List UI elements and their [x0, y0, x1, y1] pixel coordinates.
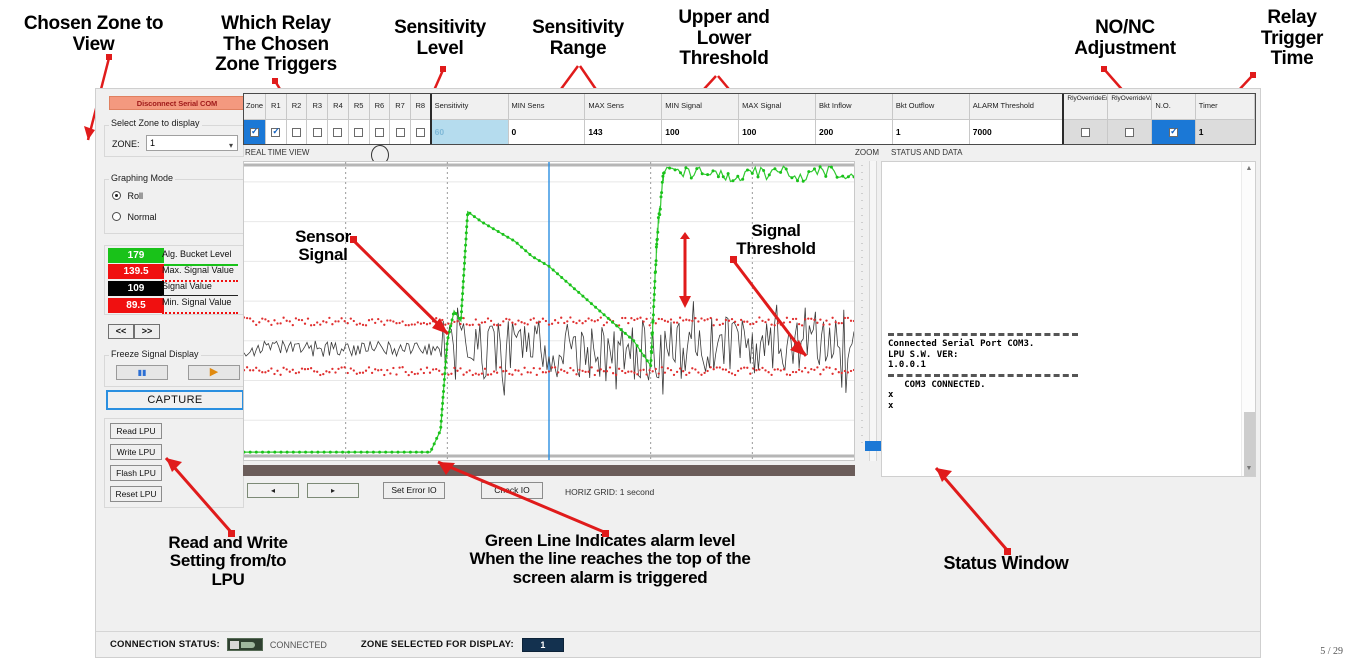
series-alg-bucket-level-marker	[796, 179, 799, 182]
zone-select[interactable]: 1 ▾	[146, 135, 238, 151]
series-min-signal-value	[551, 366, 553, 368]
series-min-signal-value	[527, 371, 529, 373]
series-alg-bucket-level-marker	[538, 259, 541, 262]
table-column: Sensitivity60	[432, 94, 509, 144]
checkbox-cell[interactable]	[328, 120, 348, 144]
series-alg-bucket-level-marker	[249, 451, 252, 454]
series-min-signal-value	[462, 374, 464, 376]
series-max-signal-value	[746, 321, 748, 323]
value-cell[interactable]: 143	[585, 120, 661, 144]
table-column: Zone	[244, 94, 266, 144]
series-min-signal-value	[853, 369, 854, 371]
series-max-signal-value	[371, 318, 373, 320]
series-min-signal-value	[774, 368, 776, 370]
series-min-signal-value	[838, 371, 840, 373]
series-min-signal-value	[438, 370, 440, 372]
series-alg-bucket-level-marker	[594, 306, 597, 309]
checkbox-unchecked-icon[interactable]	[333, 128, 342, 137]
checkbox-cell[interactable]	[266, 120, 286, 144]
series-min-signal-value	[307, 368, 309, 370]
series-min-signal-value	[700, 374, 702, 376]
checkbox-checked-icon[interactable]	[271, 128, 280, 137]
graphing-mode-roll[interactable]: Roll	[112, 191, 143, 201]
series-min-signal-value	[478, 373, 480, 375]
play-icon: ▶	[210, 366, 218, 378]
series-max-signal-value	[279, 322, 281, 324]
freeze-play-button[interactable]: ▶	[188, 365, 240, 380]
select-zone-title: Select Zone to display	[109, 118, 202, 128]
series-max-signal-value	[481, 321, 483, 323]
series-min-signal-value	[292, 369, 294, 371]
series-max-signal-value	[536, 322, 538, 324]
series-alg-bucket-level-marker	[462, 280, 465, 283]
series-alg-bucket-level-marker	[384, 451, 387, 454]
series-alg-bucket-level-marker	[674, 168, 677, 171]
series-min-signal-value	[258, 369, 260, 371]
series-alg-bucket-level-marker	[741, 178, 744, 181]
series-min-signal-value	[289, 371, 291, 373]
column-header: RlyOverrideValue	[1108, 94, 1151, 120]
max-signal-value-label: Max. Signal Value	[162, 265, 234, 275]
scroll-left-button[interactable]: ◂	[247, 483, 299, 498]
series-max-signal-value	[545, 320, 547, 322]
series-alg-bucket-level-marker	[261, 451, 264, 454]
value-cell[interactable]: 200	[816, 120, 892, 144]
series-max-signal-value	[353, 320, 355, 322]
series-alg-bucket-level-marker	[548, 265, 551, 268]
series-max-signal-value	[825, 319, 827, 321]
series-alg-bucket-level-marker	[762, 169, 765, 172]
series-min-signal-value	[496, 372, 498, 374]
series-max-signal-value	[325, 321, 327, 323]
series-min-signal-value	[414, 373, 416, 375]
series-alg-bucket-level-marker	[409, 451, 412, 454]
series-max-signal-value	[719, 324, 721, 326]
series-max-signal-value	[679, 317, 681, 319]
series-min-signal-value	[801, 370, 803, 372]
series-max-signal-value	[466, 323, 468, 325]
series-max-signal-value	[496, 324, 498, 326]
column-header: R3	[307, 94, 327, 120]
series-max-signal-value	[694, 317, 696, 319]
radio-icon-roll	[112, 191, 121, 200]
series-max-signal-value	[743, 321, 745, 323]
checkbox-unchecked-icon[interactable]	[396, 128, 405, 137]
series-alg-bucket-level-marker	[335, 451, 338, 454]
series-alg-bucket-level-marker	[656, 238, 659, 241]
series-min-signal-value	[649, 369, 651, 371]
annotation-relay-trigger-time: RelayTriggerTime	[1242, 8, 1342, 70]
series-min-signal-value	[563, 370, 565, 372]
zoom-ticks-left: ----------------------------------------	[861, 163, 863, 447]
series-min-signal-value	[627, 371, 629, 373]
series-min-signal-value	[764, 369, 766, 371]
series-max-signal-value	[688, 319, 690, 321]
series-min-signal-value	[244, 369, 245, 371]
series-alg-bucket-level-marker	[717, 175, 720, 178]
value-cell[interactable]: 100	[739, 120, 815, 144]
series-min-signal-value	[542, 371, 544, 373]
series-alg-bucket-level-marker	[712, 169, 715, 172]
series-alg-bucket-level-marker	[598, 310, 601, 313]
series-min-signal-value	[725, 369, 727, 371]
series-alg-bucket-level-marker	[556, 272, 559, 275]
capture-button[interactable]: CAPTURE	[106, 390, 244, 410]
series-min-signal-value	[276, 370, 278, 372]
table-column: R5	[349, 94, 370, 144]
series-min-signal-value	[365, 370, 367, 372]
series-alg-bucket-level-marker	[415, 451, 418, 454]
column-header: RlyOverrideEnable	[1064, 94, 1107, 120]
series-min-signal-value	[645, 373, 647, 375]
table-column: R8	[411, 94, 432, 144]
series-alg-bucket-level-marker	[847, 175, 850, 178]
series-min-signal-value	[844, 370, 846, 372]
series-alg-bucket-level-marker	[813, 167, 816, 170]
series-max-signal-value	[770, 323, 772, 325]
series-max-signal-value	[554, 319, 556, 321]
series-alg-bucket-level-marker	[658, 213, 661, 216]
series-min-signal-value	[685, 374, 687, 376]
nav-prev-button[interactable]: <<	[108, 324, 134, 339]
series-min-signal-value	[502, 370, 504, 372]
series-max-signal-value	[472, 324, 474, 326]
series-min-signal-value	[624, 372, 626, 374]
series-max-signal-value	[581, 322, 583, 324]
series-alg-bucket-level-marker	[830, 166, 833, 169]
series-min-signal-value	[490, 373, 492, 375]
series-alg-bucket-level-marker	[444, 366, 447, 369]
checkbox-cell[interactable]	[411, 120, 430, 144]
series-alg-bucket-level-marker	[316, 451, 319, 454]
checkbox-cell[interactable]	[1064, 120, 1107, 144]
series-min-signal-value	[655, 368, 657, 370]
series-alg-bucket-level-marker	[650, 359, 653, 362]
table-column: Timer1	[1196, 94, 1255, 144]
check-io-button[interactable]: Check IO	[481, 482, 543, 499]
series-alg-bucket-level-marker	[543, 262, 546, 265]
connection-status-label: CONNECTION STATUS:	[110, 639, 220, 650]
series-min-signal-value	[581, 370, 583, 372]
checkbox-unchecked-icon[interactable]	[416, 128, 425, 137]
checkbox-unchecked-icon[interactable]	[354, 128, 363, 137]
series-max-signal-value	[740, 319, 742, 321]
zoom-slider-handle[interactable]	[865, 441, 881, 451]
series-alg-bucket-level-marker	[304, 451, 307, 454]
series-max-signal-value	[350, 317, 352, 319]
series-min-signal-value	[356, 373, 358, 375]
series-min-signal-value	[786, 373, 788, 375]
series-max-signal-value	[444, 324, 446, 326]
checkbox-unchecked-icon[interactable]	[1125, 128, 1134, 137]
series-min-signal-value	[286, 368, 288, 370]
series-alg-bucket-level-marker	[353, 451, 356, 454]
value-cell[interactable]: 0	[509, 120, 585, 144]
series-alg-bucket-level-marker	[403, 451, 406, 454]
series-max-signal-value	[270, 324, 272, 326]
series-min-signal-value	[789, 374, 791, 376]
series-max-signal-value	[493, 324, 495, 326]
series-alg-bucket-level-marker	[487, 224, 490, 227]
series-alg-bucket-level-marker	[465, 238, 468, 241]
status-line: Connected Serial Port COM3.	[888, 339, 1235, 350]
series-alg-bucket-level-marker	[639, 349, 642, 352]
series-max-signal-value	[423, 322, 425, 324]
series-min-signal-value	[807, 371, 809, 373]
series-min-signal-value	[301, 367, 303, 369]
zone-selected-label: ZONE SELECTED FOR DISPLAY:	[361, 639, 514, 650]
series-min-signal-value	[481, 372, 483, 374]
signal-value: 109	[108, 281, 164, 296]
legend-line-black	[162, 295, 238, 296]
graphing-mode-normal[interactable]: Normal	[112, 212, 157, 222]
series-alg-bucket-level-marker	[679, 171, 682, 174]
series-max-signal-value	[377, 318, 379, 320]
reset-lpu-button[interactable]: Reset LPU	[110, 486, 162, 502]
series-max-signal-value	[426, 323, 428, 325]
scroll-right-button[interactable]: ▸	[307, 483, 359, 498]
series-max-signal-value	[838, 322, 840, 324]
write-lpu-button[interactable]: Write LPU	[110, 444, 162, 460]
series-alg-bucket-level-marker	[442, 390, 445, 393]
value-cell[interactable]: 7000	[970, 120, 1063, 144]
series-alg-bucket-level-marker	[684, 166, 687, 169]
series-min-signal-value	[749, 373, 751, 375]
series-alg-bucket-level-marker	[841, 175, 844, 178]
series-max-signal-value	[344, 320, 346, 322]
series-min-signal-value	[380, 369, 382, 371]
annotation-no-nc-adjustment: NO/NCAdjustment	[1050, 18, 1200, 59]
series-min-signal-value	[466, 371, 468, 373]
status-window-scrollbar[interactable]: ▲ ▼	[1241, 162, 1255, 476]
series-min-signal-value	[636, 373, 638, 375]
checkbox-cell[interactable]	[390, 120, 410, 144]
series-min-signal-value	[609, 366, 611, 368]
sensitivity-value-cell[interactable]: 60	[432, 120, 508, 144]
checkbox-unchecked-icon[interactable]	[375, 128, 384, 137]
series-alg-bucket-level-marker	[244, 451, 246, 454]
checkbox-unchecked-icon[interactable]	[292, 128, 301, 137]
series-max-signal-value	[667, 321, 669, 323]
status-window[interactable]: Connected Serial Port COM3.LPU S.W. VER:…	[881, 161, 1256, 477]
scroll-down-icon[interactable]: ▼	[1242, 462, 1256, 476]
series-min-signal-value	[615, 374, 617, 376]
series-alg-bucket-level-marker	[819, 165, 822, 168]
column-header: Sensitivity	[432, 94, 508, 120]
series-max-signal-value	[264, 318, 266, 320]
series-alg-bucket-level-marker	[790, 176, 793, 179]
series-max-signal-value	[304, 323, 306, 325]
series-alg-bucket-level-marker	[573, 287, 576, 290]
series-max-signal-value	[542, 318, 544, 320]
series-alg-bucket-level-marker	[444, 360, 447, 363]
scroll-up-icon[interactable]: ▲	[1242, 162, 1256, 176]
series-alg-bucket-level-marker	[650, 346, 653, 349]
series-max-signal-value	[713, 324, 715, 326]
column-header: MIN Signal	[662, 94, 738, 120]
checkbox-cell[interactable]	[307, 120, 327, 144]
series-max-signal-value	[359, 322, 361, 324]
series-max-signal-value	[636, 318, 638, 320]
series-max-signal-value	[398, 322, 400, 324]
realtime-chart[interactable]	[243, 161, 855, 461]
series-max-signal-value	[664, 320, 666, 322]
series-max-signal-value	[322, 320, 324, 322]
series-alg-bucket-level-marker	[533, 256, 536, 259]
disconnect-serial-com-button[interactable]: Disconnect Serial COM	[109, 96, 245, 110]
selected-cell-background[interactable]	[1152, 120, 1194, 144]
timer-value-cell[interactable]: 1	[1196, 120, 1254, 144]
series-max-signal-value	[655, 322, 657, 324]
column-header: Bkt Outflow	[893, 94, 969, 120]
series-max-signal-value	[606, 321, 608, 323]
series-min-signal-value	[450, 373, 452, 375]
chevron-down-icon: ▾	[229, 139, 233, 153]
freeze-pause-button[interactable]: ▮▮	[116, 365, 168, 380]
series-min-signal-value	[621, 370, 623, 372]
series-alg-bucket-level-marker	[310, 451, 313, 454]
series-alg-bucket-level-marker	[701, 172, 704, 175]
table-column: R3	[307, 94, 328, 144]
checkbox-cell-selected[interactable]	[244, 120, 265, 144]
series-max-signal-value	[591, 319, 593, 321]
set-error-io-button[interactable]: Set Error IO	[383, 482, 445, 499]
series-min-signal-value	[331, 368, 333, 370]
series-max-signal-value	[801, 324, 803, 326]
series-alg-bucket-level-marker	[464, 244, 467, 247]
status-line: x	[888, 390, 1235, 401]
series-min-signal-value	[423, 372, 425, 374]
series-alg-bucket-level-marker	[273, 451, 276, 454]
series-min-signal-value	[850, 370, 852, 372]
column-header: ALARM Threshold	[970, 94, 1063, 120]
column-header: R2	[287, 94, 307, 120]
nav-next-button[interactable]: >>	[134, 324, 160, 339]
series-alg-bucket-level-marker	[569, 283, 572, 286]
checkbox-cell[interactable]	[349, 120, 369, 144]
series-min-signal-value	[572, 369, 574, 371]
series-max-signal-value	[587, 317, 589, 319]
checkbox-cell[interactable]	[370, 120, 390, 144]
series-max-signal-value	[511, 322, 513, 324]
checkbox-checked-icon[interactable]	[250, 128, 259, 137]
series-min-signal-value	[557, 371, 559, 373]
checkbox-unchecked-icon[interactable]	[1081, 128, 1090, 137]
series-min-signal-value	[755, 369, 757, 371]
series-max-signal-value	[502, 320, 504, 322]
zone-label: ZONE:	[112, 139, 140, 149]
series-alg-bucket-level-marker	[460, 310, 463, 313]
series-max-signal-value	[282, 317, 284, 319]
series-alg-bucket-level-marker	[773, 167, 776, 170]
series-alg-bucket-level-marker	[528, 253, 531, 256]
series-min-signal-value	[661, 366, 663, 368]
checkbox-checked-icon[interactable]	[1169, 128, 1178, 137]
annotation-chosen-zone-to-view: Chosen Zone toView	[6, 14, 181, 55]
value-cell[interactable]: 1	[893, 120, 969, 144]
series-max-signal-value	[752, 323, 754, 325]
flash-lpu-button[interactable]: Flash LPU	[110, 465, 162, 481]
series-alg-bucket-level-marker	[516, 242, 519, 245]
value-cell[interactable]: 100	[662, 120, 738, 144]
series-min-signal-value	[405, 371, 407, 373]
annotation-read-write-lpu: Read and WriteSetting from/toLPU	[128, 534, 328, 589]
series-max-signal-value	[566, 320, 568, 322]
status-line: 1.0.0.1	[888, 360, 1235, 371]
legend-line-red-lower	[162, 312, 238, 314]
series-min-signal-value	[703, 372, 705, 374]
series-alg-bucket-level-marker	[426, 451, 429, 454]
series-max-signal-value	[244, 316, 245, 318]
series-max-signal-value	[603, 324, 605, 326]
series-max-signal-value	[597, 319, 599, 321]
series-max-signal-value	[514, 323, 516, 325]
read-lpu-button[interactable]: Read LPU	[110, 423, 162, 439]
series-max-signal-value	[432, 320, 434, 322]
series-alg-bucket-level-marker	[746, 169, 749, 172]
checkbox-unchecked-icon[interactable]	[313, 128, 322, 137]
series-min-signal-value	[673, 374, 675, 376]
series-min-signal-value	[350, 367, 352, 369]
annotation-green-line-alarm: Green Line Indicates alarm levelWhen the…	[400, 532, 820, 587]
series-max-signal-value	[706, 318, 708, 320]
series-max-signal-value	[435, 317, 437, 319]
table-column: R7	[390, 94, 411, 144]
series-min-signal-value	[459, 367, 461, 369]
series-max-signal-value	[807, 317, 809, 319]
series-min-signal-value	[670, 369, 672, 371]
series-alg-bucket-level-marker	[441, 402, 444, 405]
table-column: MIN Sens0	[509, 94, 586, 144]
series-min-signal-value	[304, 368, 306, 370]
series-min-signal-value	[618, 368, 620, 370]
series-max-signal-value	[539, 321, 541, 323]
series-alg-bucket-level-marker	[690, 177, 693, 180]
series-min-signal-value	[441, 373, 443, 375]
series-min-signal-value	[594, 374, 596, 376]
series-max-signal-value	[731, 318, 733, 320]
series-max-signal-value	[697, 320, 699, 322]
series-min-signal-value	[383, 374, 385, 376]
series-alg-bucket-level-marker	[653, 280, 656, 283]
series-min-signal-value	[411, 371, 413, 373]
series-max-signal-value	[831, 317, 833, 319]
series-alg-bucket-level-marker	[590, 302, 593, 305]
series-max-signal-value	[347, 322, 349, 324]
series-max-signal-value	[716, 319, 718, 321]
series-min-signal-value	[325, 370, 327, 372]
series-min-signal-value	[835, 368, 837, 370]
series-alg-bucket-level-marker	[652, 313, 655, 316]
series-alg-bucket-level-marker	[624, 332, 627, 335]
series-max-signal-value	[292, 324, 294, 326]
series-max-signal-value	[530, 319, 532, 321]
zoom-slider-track[interactable]	[869, 161, 877, 461]
series-alg-bucket-level-marker	[732, 179, 735, 182]
series-min-signal-value	[600, 368, 602, 370]
series-min-signal-value	[728, 371, 730, 373]
checkbox-cell[interactable]	[287, 120, 307, 144]
column-header: MAX Signal	[739, 94, 815, 120]
horizontal-scroll-bar[interactable]	[243, 465, 855, 476]
series-min-signal-value	[508, 373, 510, 375]
plug-icon	[227, 638, 263, 651]
no-nc-checkbox-cell[interactable]	[1152, 120, 1194, 144]
series-max-signal-value	[725, 319, 727, 321]
series-max-signal-value	[411, 323, 413, 325]
series-max-signal-value	[328, 317, 330, 319]
checkbox-cell[interactable]	[1108, 120, 1151, 144]
